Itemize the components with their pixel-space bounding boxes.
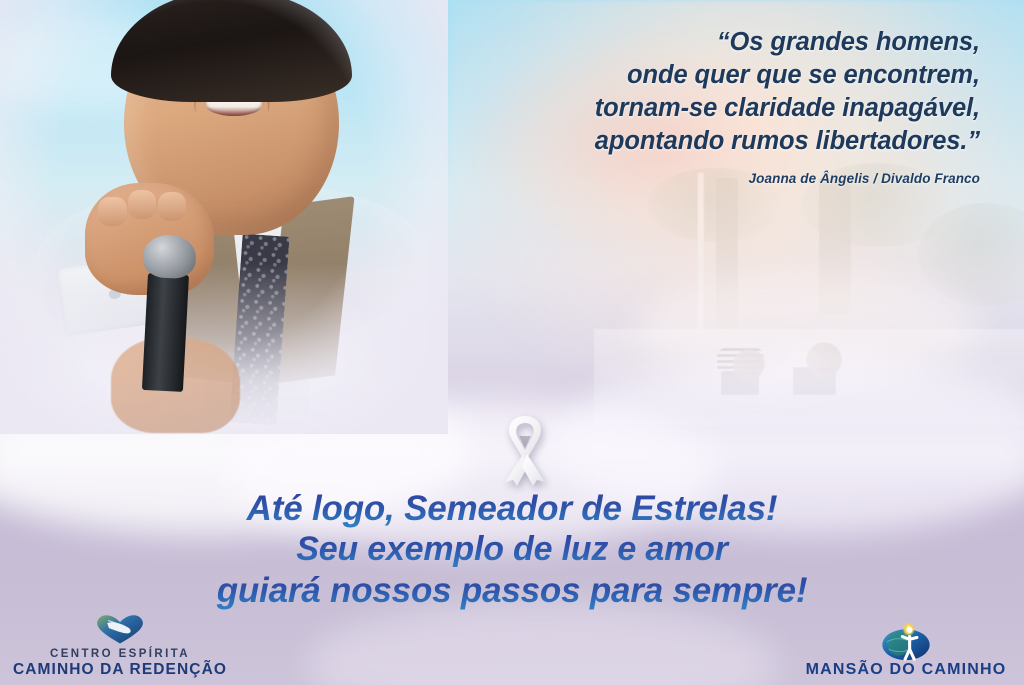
memorial-poster: “Os grandes homens, onde quer que se enc… — [0, 0, 1024, 685]
person-adult-figure — [797, 341, 833, 395]
tree-icon — [716, 178, 739, 331]
pole-icon — [698, 173, 704, 351]
logo-mansao-do-caminho: MANSÃO DO CAMINHO — [796, 624, 1016, 679]
portrait-photo — [8, 0, 438, 424]
headline-line-3: guiará nossos passos para sempre! — [0, 570, 1024, 611]
quote-line-3: tornam-se claridade inapagável, — [440, 92, 980, 125]
finger — [128, 190, 156, 219]
quote-text: “Os grandes homens, onde quer que se enc… — [440, 26, 980, 158]
quote-line-1: “Os grandes homens, — [440, 26, 980, 59]
logo-right-line-1: MANSÃO DO CAMINHO — [796, 660, 1016, 679]
globe-figure-icon — [796, 624, 1016, 660]
white-ribbon-icon — [495, 410, 555, 488]
tree-icon — [819, 178, 851, 314]
person-child-figure — [725, 348, 757, 395]
logo-centro-espirita: CENTRO ESPÍRITA CAMINHO DA REDENÇÃO — [10, 611, 230, 679]
logo-left-line-1: CENTRO ESPÍRITA — [10, 647, 230, 661]
microphone-head — [142, 234, 196, 280]
background-photo-two-people-walking — [594, 178, 1024, 425]
quote-attribution: Joanna de Ângelis / Divaldo Franco — [440, 171, 980, 186]
quote-line-4: apontando rumos libertadores.” — [440, 125, 980, 158]
quote-line-2: onde quer que se encontrem, — [440, 59, 980, 92]
headline-text: Até logo, Semeador de Estrelas! Seu exem… — [0, 488, 1024, 611]
figure-head — [733, 349, 765, 381]
heart-hands-icon — [10, 611, 230, 647]
finger — [98, 197, 126, 226]
microphone-icon — [142, 234, 191, 391]
microphone-body — [141, 272, 188, 392]
headline-line-2: Seu exemplo de luz e amor — [0, 529, 1024, 570]
logo-left-line-2: CAMINHO DA REDENÇÃO — [10, 661, 230, 679]
hair — [111, 0, 352, 102]
headline-line-1: Até logo, Semeador de Estrelas! — [0, 488, 1024, 529]
finger — [158, 192, 186, 221]
